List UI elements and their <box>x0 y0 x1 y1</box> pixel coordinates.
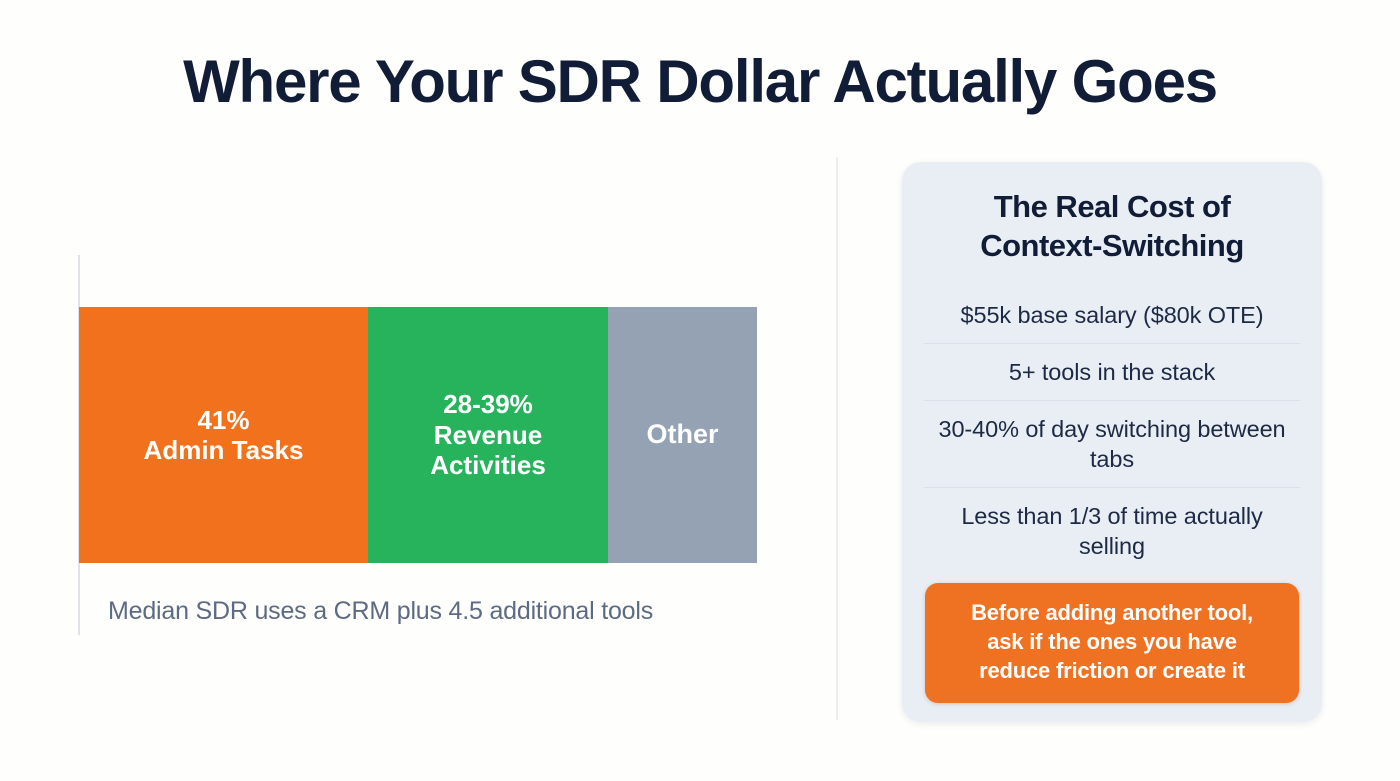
context-switching-card: The Real Cost of Context-Switching $55k … <box>902 162 1322 722</box>
stacked-bar-chart: 41% Admin Tasks 28-39% Revenue Activitie… <box>79 307 757 563</box>
list-item: Less than 1/3 of time actually selling <box>924 487 1300 574</box>
bar-segment-other[interactable]: Other <box>608 307 757 563</box>
bar-segment-revenue-value: 28-39% <box>443 389 533 419</box>
fact-4-line1: Less than 1/3 of time actually <box>961 503 1262 529</box>
list-item: 30-40% of day switching between tabs <box>924 400 1300 487</box>
fact-4-line2: selling <box>1079 533 1145 559</box>
chart-panel: 41% Admin Tasks 28-39% Revenue Activitie… <box>0 150 836 730</box>
bar-segment-revenue-label-line1: Revenue <box>434 420 542 450</box>
fact-3-line1: 30-40% of day switching <box>938 416 1190 442</box>
callout-line3: reduce friction or create it <box>941 656 1283 685</box>
fact-1-line1: $55k base salary ($80k OTE) <box>961 302 1264 328</box>
slide-root: Where Your SDR Dollar Actually Goes 41% … <box>0 0 1400 781</box>
card-title: The Real Cost of Context-Switching <box>924 188 1300 266</box>
fact-2-line1: 5+ tools in the stack <box>1009 359 1215 385</box>
bar-segment-admin-label: Admin Tasks <box>144 435 304 465</box>
card-title-line1: The Real Cost of <box>994 189 1231 224</box>
list-item: $55k base salary ($80k OTE) <box>924 287 1300 343</box>
bar-segment-admin-tasks[interactable]: 41% Admin Tasks <box>79 307 368 563</box>
list-item: 5+ tools in the stack <box>924 343 1300 400</box>
card-callout-banner: Before adding another tool, ask if the o… <box>925 583 1299 703</box>
chart-caption: Median SDR uses a CRM plus 4.5 additiona… <box>108 597 653 626</box>
card-title-line2: Context-Switching <box>924 227 1300 266</box>
vertical-divider <box>836 157 838 720</box>
card-fact-list: $55k base salary ($80k OTE) 5+ tools in … <box>924 287 1300 574</box>
callout-line1: Before adding another tool, <box>941 598 1283 627</box>
bar-segment-revenue-activities[interactable]: 28-39% Revenue Activities <box>368 307 608 563</box>
bar-segment-admin-value: 41% <box>197 405 249 435</box>
bar-segment-other-label: Other <box>646 419 718 451</box>
callout-line2: ask if the ones you have <box>941 627 1283 656</box>
bar-segment-revenue-label-line2: Activities <box>430 450 546 480</box>
page-title: Where Your SDR Dollar Actually Goes <box>0 47 1400 116</box>
